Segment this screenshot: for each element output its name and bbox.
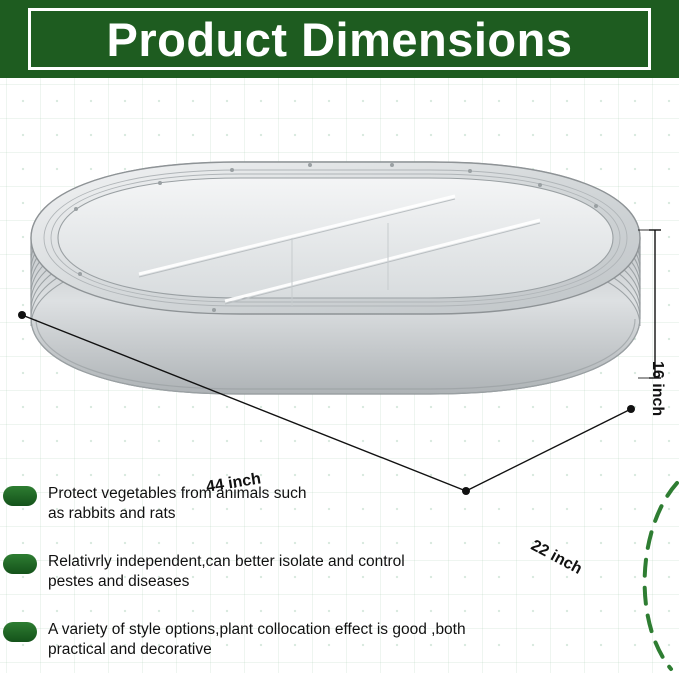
feature-list: Protect vegetables from animals such as … [0, 478, 679, 673]
feature-item-2: Relativrly independent,can better isolat… [3, 552, 405, 591]
raised-garden-bed-illustration [0, 78, 679, 498]
product-dimensions-infographic: Product Dimensions [0, 0, 679, 673]
feature-3-line-2: practical and decorative [48, 640, 466, 660]
feature-item-3: A variety of style options,plant colloca… [3, 620, 466, 659]
bullet-pill-icon [3, 622, 37, 642]
feature-text-2: Relativrly independent,can better isolat… [48, 552, 405, 591]
feature-3-line-1: A variety of style options,plant colloca… [48, 620, 466, 640]
bullet-pill-icon [3, 486, 37, 506]
header-banner-border: Product Dimensions [28, 8, 651, 70]
feature-2-line-2: pestes and diseases [48, 572, 405, 592]
feature-text-3: A variety of style options,plant colloca… [48, 620, 466, 659]
dimension-label-height: 16 inch [648, 361, 666, 416]
feature-text-1: Protect vegetables from animals such as … [48, 484, 306, 523]
feature-1-line-2: as rabbits and rats [48, 504, 306, 524]
feature-item-1: Protect vegetables from animals such as … [3, 484, 306, 523]
product-image-area: 44 inch 22 inch 16 inch [0, 78, 679, 498]
planter-top-rim [31, 162, 641, 318]
feature-2-line-1: Relativrly independent,can better isolat… [48, 552, 405, 572]
header-banner: Product Dimensions [0, 0, 679, 78]
bullet-pill-icon [3, 554, 37, 574]
page-title: Product Dimensions [106, 16, 572, 63]
feature-1-line-1: Protect vegetables from animals such [48, 484, 306, 504]
